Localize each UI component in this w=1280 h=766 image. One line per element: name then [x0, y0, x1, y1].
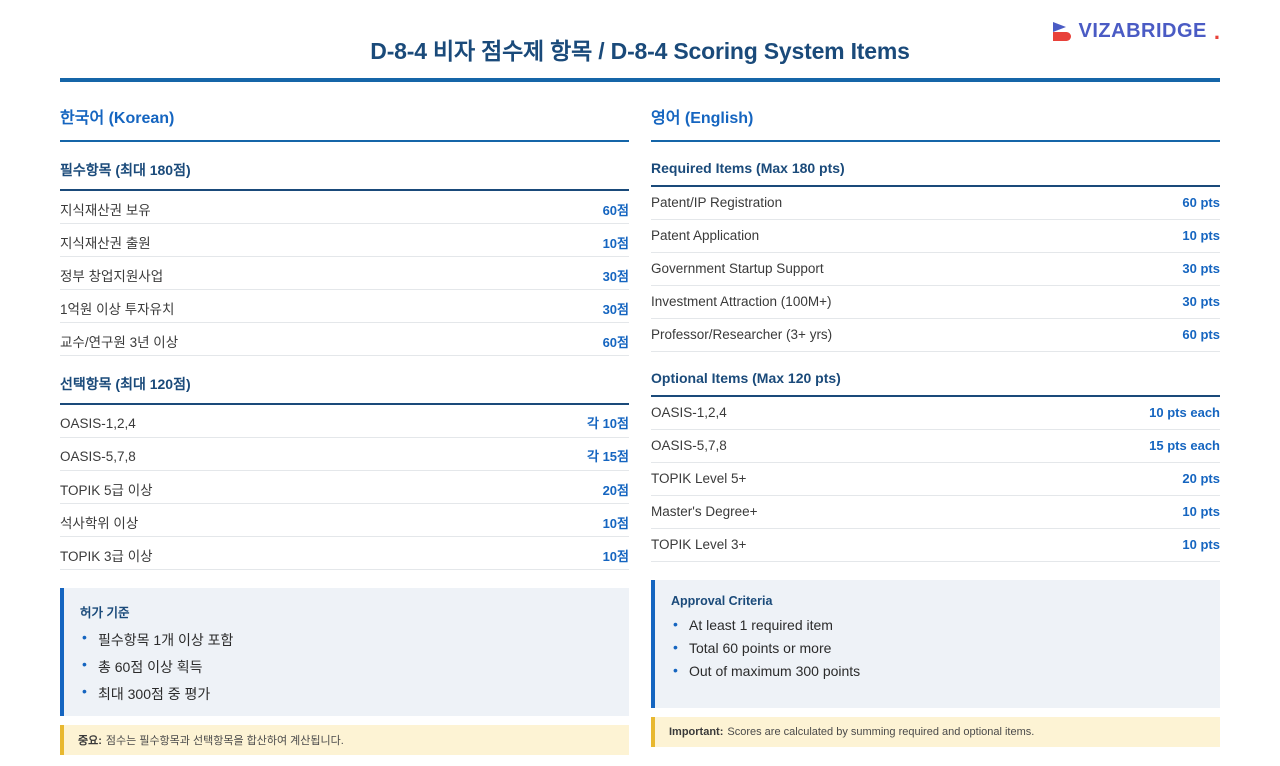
table-row: TOPIK 5급 이상 20점: [60, 471, 629, 504]
item-value: 각 10점: [587, 413, 629, 432]
item-label: 교수/연구원 3년 이상: [60, 331, 178, 351]
brand-name: VIZABRIDGE: [1079, 20, 1207, 43]
table-row: 교수/연구원 3년 이상 60점: [60, 323, 629, 356]
table-row: TOPIK Level 5+ 20 pts: [651, 463, 1220, 496]
note-body: Scores are calculated by summing require…: [727, 726, 1034, 738]
section-title-english-required: Required Items (Max 180 pts): [651, 160, 1220, 185]
table-row: Patent Application 10 pts: [651, 220, 1220, 253]
list-item: Out of maximum 300 points: [671, 663, 1202, 679]
brand-logo: VIZABRIDGE .: [1053, 20, 1220, 43]
criteria-box-english: Approval Criteria At least 1 required it…: [651, 580, 1220, 708]
table-row: Master's Degree+ 10 pts: [651, 496, 1220, 529]
note-bar-korean: 중요: 점수는 필수항목과 선택항목을 합산하여 계산됩니다.: [60, 725, 629, 755]
table-row: TOPIK 3급 이상 10점: [60, 537, 629, 570]
item-label: 석사학위 이상: [60, 512, 138, 532]
item-value: 60점: [603, 332, 629, 351]
table-row: Professor/Researcher (3+ yrs) 60 pts: [651, 319, 1220, 352]
item-value: 10 pts: [1182, 537, 1220, 552]
item-label: OASIS-1,2,4: [651, 405, 727, 420]
section-title-korean-optional: 선택항목 (최대 120점): [60, 374, 629, 403]
list-item: 최대 300점 중 평가: [80, 684, 611, 704]
item-label: 지식재산권 보유: [60, 199, 151, 219]
table-row: 지식재산권 보유 60점: [60, 191, 629, 224]
page-title: D-8-4 비자 점수제 항목 / D-8-4 Scoring System I…: [60, 32, 1220, 66]
criteria-title: 허가 기준: [80, 602, 611, 621]
item-value: 60점: [603, 200, 629, 219]
table-row: OASIS-1,2,4 10 pts each: [651, 397, 1220, 430]
item-label: TOPIK 5급 이상: [60, 479, 153, 499]
table-row: 정부 창업지원사업 30점: [60, 257, 629, 290]
note-bar-english: Important: Scores are calculated by summ…: [651, 717, 1220, 747]
page-root: D-8-4 비자 점수제 항목 / D-8-4 Scoring System I…: [0, 0, 1280, 766]
item-value: 10 pts: [1182, 504, 1220, 519]
brand-dot-icon: .: [1214, 21, 1220, 43]
item-label: Government Startup Support: [651, 261, 824, 276]
item-value: 15 pts each: [1149, 438, 1220, 453]
item-label: 지식재산권 출원: [60, 232, 151, 252]
item-value: 10 pts each: [1149, 405, 1220, 420]
table-row: 1억원 이상 투자유치 30점: [60, 290, 629, 323]
item-label: Patent/IP Registration: [651, 195, 782, 210]
criteria-list: 필수항목 1개 이상 포함 총 60점 이상 획득 최대 300점 중 평가: [80, 630, 611, 704]
note-prefix: 중요:: [78, 732, 102, 748]
vizabridge-arrow-icon: [1053, 21, 1072, 43]
item-label: TOPIK Level 3+: [651, 537, 746, 552]
language-rule-korean: [60, 140, 629, 142]
item-label: 1억원 이상 투자유치: [60, 298, 174, 318]
item-label: Patent Application: [651, 228, 759, 243]
item-value: 20 pts: [1182, 471, 1220, 486]
item-value: 30점: [603, 299, 629, 318]
list-english-optional: OASIS-1,2,4 10 pts each OASIS-5,7,8 15 p…: [651, 397, 1220, 562]
item-label: OASIS-5,7,8: [651, 438, 727, 453]
page-header: D-8-4 비자 점수제 항목 / D-8-4 Scoring System I…: [60, 0, 1220, 78]
item-value: 20점: [603, 480, 629, 499]
item-value: 각 15점: [587, 446, 629, 465]
language-rule-english: [651, 140, 1220, 142]
item-value: 30점: [603, 266, 629, 285]
list-korean-optional: OASIS-1,2,4 각 10점 OASIS-5,7,8 각 15점 TOPI…: [60, 405, 629, 570]
item-value: 60 pts: [1182, 327, 1220, 342]
table-row: Patent/IP Registration 60 pts: [651, 187, 1220, 220]
header-divider: [60, 78, 1220, 82]
item-value: 60 pts: [1182, 195, 1220, 210]
table-row: OASIS-5,7,8 15 pts each: [651, 430, 1220, 463]
table-row: OASIS-5,7,8 각 15점: [60, 438, 629, 471]
item-label: Master's Degree+: [651, 504, 758, 519]
list-item: 총 60점 이상 획득: [80, 657, 611, 677]
section-title-korean-required: 필수항목 (최대 180점): [60, 160, 629, 189]
item-label: Investment Attraction (100M+): [651, 294, 831, 309]
table-row: 석사학위 이상 10점: [60, 504, 629, 537]
list-english-required: Patent/IP Registration 60 pts Patent App…: [651, 187, 1220, 352]
criteria-list: At least 1 required item Total 60 points…: [671, 617, 1202, 679]
list-item: Total 60 points or more: [671, 640, 1202, 656]
list-item: 필수항목 1개 이상 포함: [80, 630, 611, 650]
item-value: 10점: [603, 546, 629, 565]
section-title-english-optional: Optional Items (Max 120 pts): [651, 370, 1220, 395]
table-row: Government Startup Support 30 pts: [651, 253, 1220, 286]
item-value: 10점: [603, 233, 629, 252]
language-heading-english: 영어 (English): [651, 104, 1220, 140]
item-label: TOPIK Level 5+: [651, 471, 746, 486]
item-label: OASIS-5,7,8: [60, 449, 136, 464]
item-value: 30 pts: [1182, 261, 1220, 276]
item-value: 10 pts: [1182, 228, 1220, 243]
table-row: 지식재산권 출원 10점: [60, 224, 629, 257]
note-prefix: Important:: [669, 726, 723, 738]
column-english: 영어 (English) Required Items (Max 180 pts…: [651, 104, 1220, 755]
language-heading-korean: 한국어 (Korean): [60, 104, 629, 140]
list-item: At least 1 required item: [671, 617, 1202, 633]
column-korean: 한국어 (Korean) 필수항목 (최대 180점) 지식재산권 보유 60점…: [60, 104, 629, 755]
criteria-box-korean: 허가 기준 필수항목 1개 이상 포함 총 60점 이상 획득 최대 300점 …: [60, 588, 629, 716]
table-row: TOPIK Level 3+ 10 pts: [651, 529, 1220, 562]
item-value: 10점: [603, 513, 629, 532]
item-label: TOPIK 3급 이상: [60, 545, 153, 565]
list-korean-required: 지식재산권 보유 60점 지식재산권 출원 10점 정부 창업지원사업 30점 …: [60, 191, 629, 356]
item-label: 정부 창업지원사업: [60, 265, 163, 285]
table-row: Investment Attraction (100M+) 30 pts: [651, 286, 1220, 319]
item-label: OASIS-1,2,4: [60, 416, 136, 431]
item-value: 30 pts: [1182, 294, 1220, 309]
table-row: OASIS-1,2,4 각 10점: [60, 405, 629, 438]
bilingual-columns: 한국어 (Korean) 필수항목 (최대 180점) 지식재산권 보유 60점…: [60, 104, 1220, 755]
criteria-title: Approval Criteria: [671, 594, 1202, 608]
item-label: Professor/Researcher (3+ yrs): [651, 327, 832, 342]
note-body: 점수는 필수항목과 선택항목을 합산하여 계산됩니다.: [106, 732, 344, 748]
